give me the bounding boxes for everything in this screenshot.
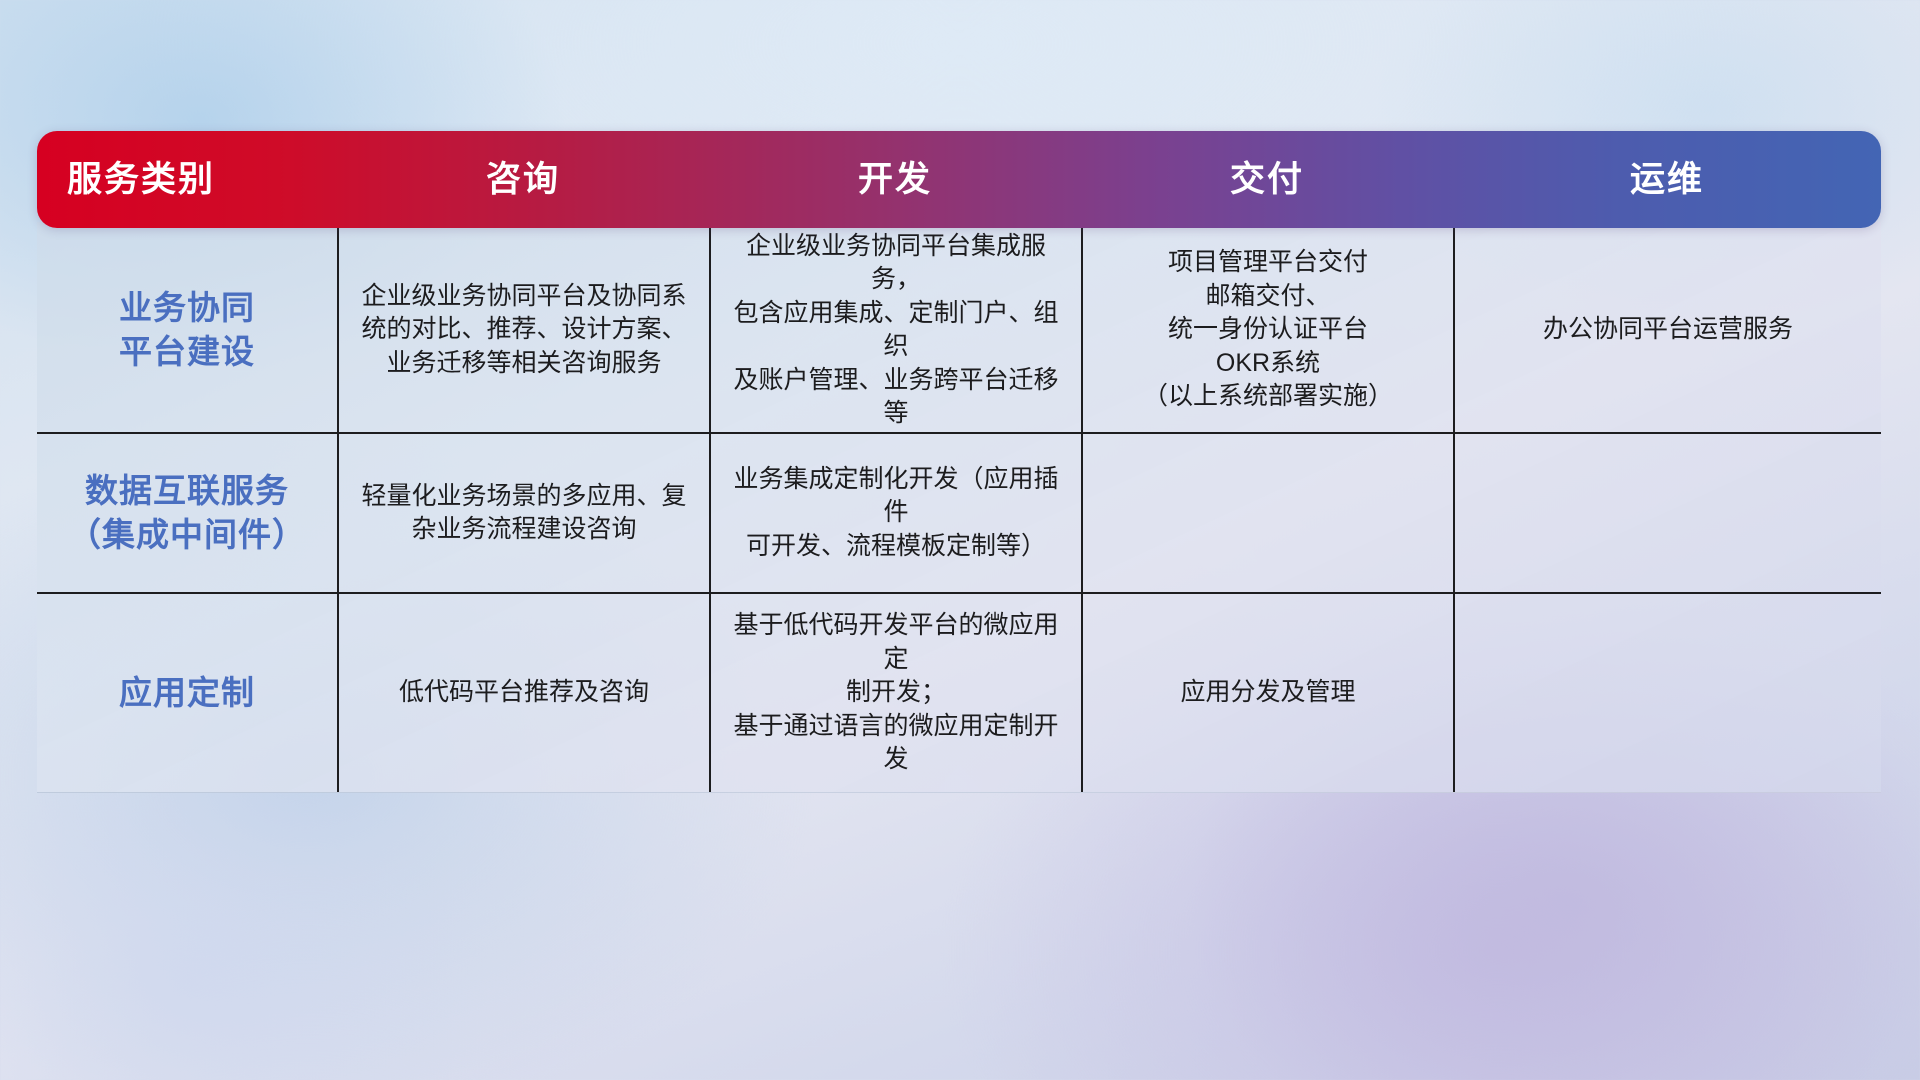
column-header-delivery: 交付 — [1081, 162, 1453, 197]
row-header-label: 业务协同 平台建设 — [119, 286, 255, 373]
cell-text: 轻量化业务场景的多应用、复 杂业务流程建设咨询 — [361, 480, 686, 547]
cell-delivery: 应用分发及管理 — [1081, 594, 1453, 792]
cell-text: 办公协同平台运营服务 — [1543, 313, 1793, 347]
table-header-row: 服务类别 咨询 开发 交付 运维 — [37, 131, 1881, 228]
table-row: 业务协同 平台建设 企业级业务协同平台及协同系 统的对比、推荐、设计方案、 业务… — [37, 228, 1881, 432]
cell-operations: 办公协同平台运营服务 — [1453, 228, 1881, 432]
cell-operations — [1453, 434, 1881, 592]
cell-development: 基于低代码开发平台的微应用定 制开发； 基于通过语言的微应用定制开发 — [709, 594, 1081, 792]
cell-text: 企业级业务协同平台及协同系 统的对比、推荐、设计方案、 业务迁移等相关咨询服务 — [361, 280, 686, 381]
table-row: 应用定制 低代码平台推荐及咨询 基于低代码开发平台的微应用定 制开发； 基于通过… — [37, 592, 1881, 792]
table-row: 数据互联服务 （集成中间件） 轻量化业务场景的多应用、复 杂业务流程建设咨询 业… — [37, 432, 1881, 592]
column-header-operations: 运维 — [1453, 162, 1881, 197]
cell-text: 企业级业务协同平台集成服务， 包含应用集成、定制门户、组织 及账户管理、业务跨平… — [727, 230, 1065, 431]
cell-text: 低代码平台推荐及咨询 — [399, 676, 649, 710]
cell-development: 业务集成定制化开发（应用插件 可开发、流程模板定制等） — [709, 434, 1081, 592]
cell-text: 基于低代码开发平台的微应用定 制开发； 基于通过语言的微应用定制开发 — [727, 609, 1065, 777]
cell-consulting: 企业级业务协同平台及协同系 统的对比、推荐、设计方案、 业务迁移等相关咨询服务 — [337, 228, 709, 432]
cell-text: 应用分发及管理 — [1180, 676, 1355, 710]
cell-consulting: 轻量化业务场景的多应用、复 杂业务流程建设咨询 — [337, 434, 709, 592]
column-header-category: 服务类别 — [37, 162, 337, 197]
column-header-development: 开发 — [709, 162, 1081, 197]
row-header-cell: 应用定制 — [37, 594, 337, 792]
cell-text: 项目管理平台交付 邮箱交付、 统一身份认证平台 OKR系统 （以上系统部署实施） — [1143, 246, 1393, 414]
row-header-label: 应用定制 — [119, 671, 255, 715]
row-header-cell: 业务协同 平台建设 — [37, 228, 337, 432]
cell-operations — [1453, 594, 1881, 792]
service-matrix-table: 服务类别 咨询 开发 交付 运维 业务协同 平台建设 企业级业务协同平台及协同系… — [37, 131, 1881, 793]
cell-development: 企业级业务协同平台集成服务， 包含应用集成、定制门户、组织 及账户管理、业务跨平… — [709, 228, 1081, 432]
column-header-consulting: 咨询 — [337, 162, 709, 197]
row-header-cell: 数据互联服务 （集成中间件） — [37, 434, 337, 592]
table-body: 业务协同 平台建设 企业级业务协同平台及协同系 统的对比、推荐、设计方案、 业务… — [37, 222, 1881, 793]
cell-delivery: 项目管理平台交付 邮箱交付、 统一身份认证平台 OKR系统 （以上系统部署实施） — [1081, 228, 1453, 432]
row-header-label: 数据互联服务 （集成中间件） — [68, 469, 306, 556]
cell-delivery — [1081, 434, 1453, 592]
cell-consulting: 低代码平台推荐及咨询 — [337, 594, 709, 792]
cell-text: 业务集成定制化开发（应用插件 可开发、流程模板定制等） — [727, 463, 1065, 564]
